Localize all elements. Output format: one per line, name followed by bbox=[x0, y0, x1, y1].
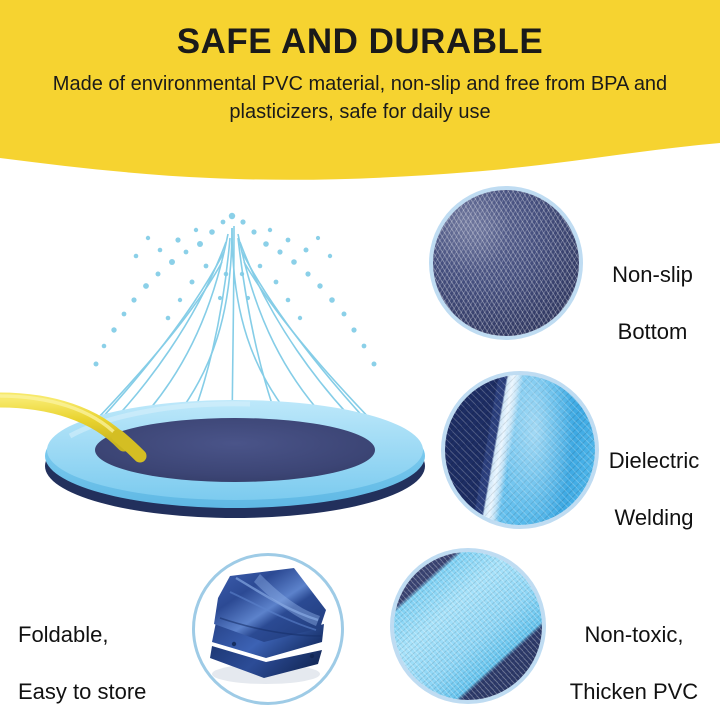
infographic-page: SAFE AND DURABLE Made of environmental P… bbox=[0, 0, 720, 720]
page-title: SAFE AND DURABLE bbox=[0, 24, 720, 61]
welding-seam-icon bbox=[445, 375, 595, 525]
feature-label-line2: Welding bbox=[588, 504, 720, 533]
feature-label-dielectric-welding: Dielectric Welding bbox=[588, 418, 720, 561]
mesh-texture-icon bbox=[433, 190, 579, 336]
sprinkler-pad-graphic bbox=[0, 178, 450, 518]
feature-label-line2: Easy to store bbox=[18, 678, 198, 707]
feature-label-line1: Non-toxic, bbox=[548, 621, 720, 650]
banner-text-block: SAFE AND DURABLE Made of environmental P… bbox=[0, 0, 720, 127]
banner-subtitle: Made of environmental PVC material, non-… bbox=[0, 70, 720, 127]
feature-label-line1: Foldable, bbox=[18, 621, 198, 650]
feature-swatch-dielectric-welding bbox=[445, 375, 595, 525]
header-banner: SAFE AND DURABLE Made of environmental P… bbox=[0, 0, 720, 200]
feature-label-line1: Non-slip bbox=[585, 261, 720, 290]
feature-label-foldable-easy-to-store: Foldable, Easy to store bbox=[18, 592, 198, 720]
feature-label-non-toxic-thicken-pvc: Non-toxic, Thicken PVC bbox=[548, 592, 720, 720]
feature-label-non-slip-bottom: Non-slip Bottom bbox=[585, 232, 720, 375]
folded-mat-graphic bbox=[200, 558, 332, 694]
product-illustration bbox=[0, 178, 450, 518]
feature-label-line2: Thicken PVC bbox=[548, 678, 720, 707]
feature-label-line1: Dielectric bbox=[588, 447, 720, 476]
folded-mat-icon bbox=[200, 558, 332, 694]
pvc-texture-icon bbox=[394, 552, 542, 700]
feature-swatch-non-toxic-thicken-pvc bbox=[394, 552, 542, 700]
water-droplets bbox=[94, 213, 377, 367]
feature-label-line2: Bottom bbox=[585, 318, 720, 347]
feature-swatch-non-slip-bottom bbox=[433, 190, 579, 336]
